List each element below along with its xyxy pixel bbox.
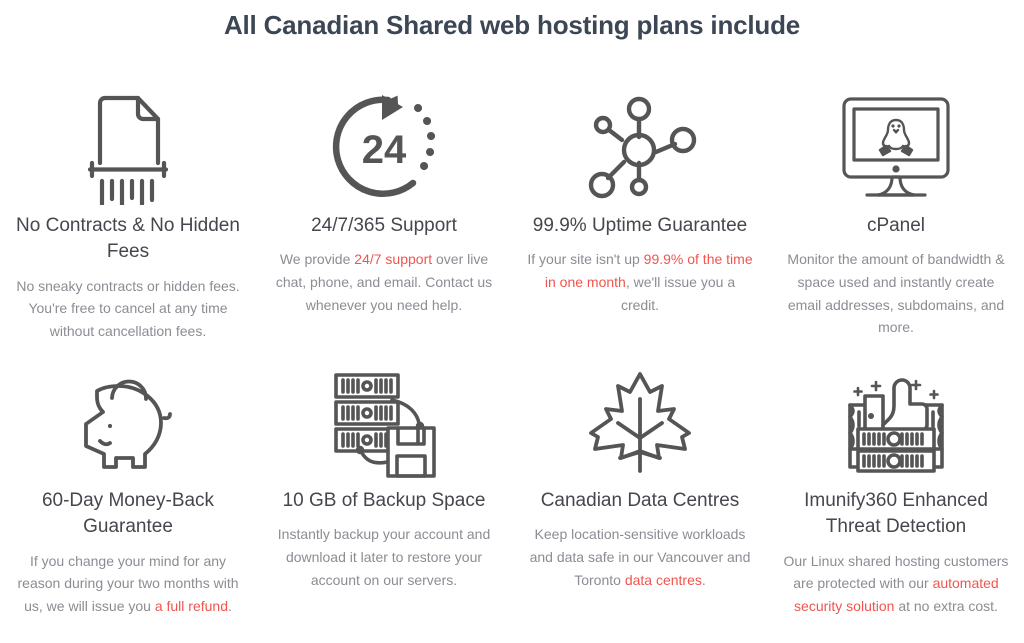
desc-segment: , we'll issue you a credit.: [621, 274, 735, 313]
feature-title: 24/7/365 Support: [311, 213, 457, 239]
24-hour-clock-icon: 24: [327, 83, 441, 211]
feature-card-data-centres: Canadian Data Centres Keep location-sens…: [512, 358, 768, 633]
feature-title: cPanel: [867, 213, 925, 239]
feature-card-cpanel: cPanel Monitor the amount of bandwidth &…: [768, 83, 1024, 358]
feature-card-money-back: 60-Day Money-Back Guarantee If you chang…: [0, 358, 256, 633]
feature-title: No Contracts & No Hidden Fees: [14, 213, 242, 265]
feature-card-support: 24 24/7/365 Support We provide 24/7 supp…: [256, 83, 512, 358]
desc-segment: Monitor the amount of bandwidth & space …: [787, 251, 1004, 335]
piggy-bank-icon: [69, 358, 187, 486]
desc-segment: No sneaky contracts or hidden fees. You'…: [16, 278, 239, 339]
desc-segment: .: [228, 598, 232, 614]
monitor-linux-penguin-icon: [834, 83, 958, 211]
page-title: All Canadian Shared web hosting plans in…: [0, 0, 1024, 41]
desc-segment: at no extra cost.: [894, 598, 998, 614]
feature-description: No sneaky contracts or hidden fees. You'…: [14, 275, 242, 343]
desc-highlight-link[interactable]: a full refund: [155, 598, 228, 614]
thumbs-up-server-security-icon: [836, 358, 956, 486]
feature-description: If you change your mind for any reason d…: [14, 550, 242, 618]
feature-description: Our Linux shared hosting customers are p…: [782, 550, 1010, 618]
feature-description: Keep location-sensitive workloads and da…: [526, 523, 754, 591]
feature-card-backup-space: 10 GB of Backup Space Instantly backup y…: [256, 358, 512, 633]
feature-title: Imunify360 Enhanced Threat Detection: [782, 488, 1010, 540]
desc-segment: .: [702, 572, 706, 588]
feature-title: 10 GB of Backup Space: [283, 488, 486, 514]
feature-card-no-contracts: No Contracts & No Hidden Fees No sneaky …: [0, 83, 256, 358]
desc-segment: We provide: [280, 251, 354, 267]
svg-text:24: 24: [362, 128, 407, 172]
feature-description: Monitor the amount of bandwidth & space …: [782, 248, 1010, 339]
desc-segment: Instantly backup your account and downlo…: [278, 526, 490, 587]
feature-description: We provide 24/7 support over live chat, …: [270, 248, 498, 316]
feature-grid: No Contracts & No Hidden Fees No sneaky …: [0, 83, 1024, 633]
feature-description: Instantly backup your account and downlo…: [270, 523, 498, 591]
feature-title: 99.9% Uptime Guarantee: [533, 213, 747, 239]
desc-segment: If your site isn't up: [527, 251, 643, 267]
feature-card-uptime: 99.9% Uptime Guarantee If your site isn'…: [512, 83, 768, 358]
paper-shredder-icon: [72, 83, 184, 211]
feature-title: Canadian Data Centres: [541, 488, 740, 514]
desc-highlight-link[interactable]: 24/7 support: [354, 251, 432, 267]
feature-title: 60-Day Money-Back Guarantee: [14, 488, 242, 540]
maple-leaf-icon: [584, 358, 696, 486]
network-hub-icon: [582, 83, 698, 211]
shared-hosting-features-page: All Canadian Shared web hosting plans in…: [0, 0, 1024, 643]
feature-description: If your site isn't up 99.9% of the time …: [526, 248, 754, 316]
server-backup-floppy-icon: [324, 358, 444, 486]
feature-card-imunify360: Imunify360 Enhanced Threat Detection Our…: [768, 358, 1024, 633]
desc-highlight-link[interactable]: data centres: [625, 572, 702, 588]
